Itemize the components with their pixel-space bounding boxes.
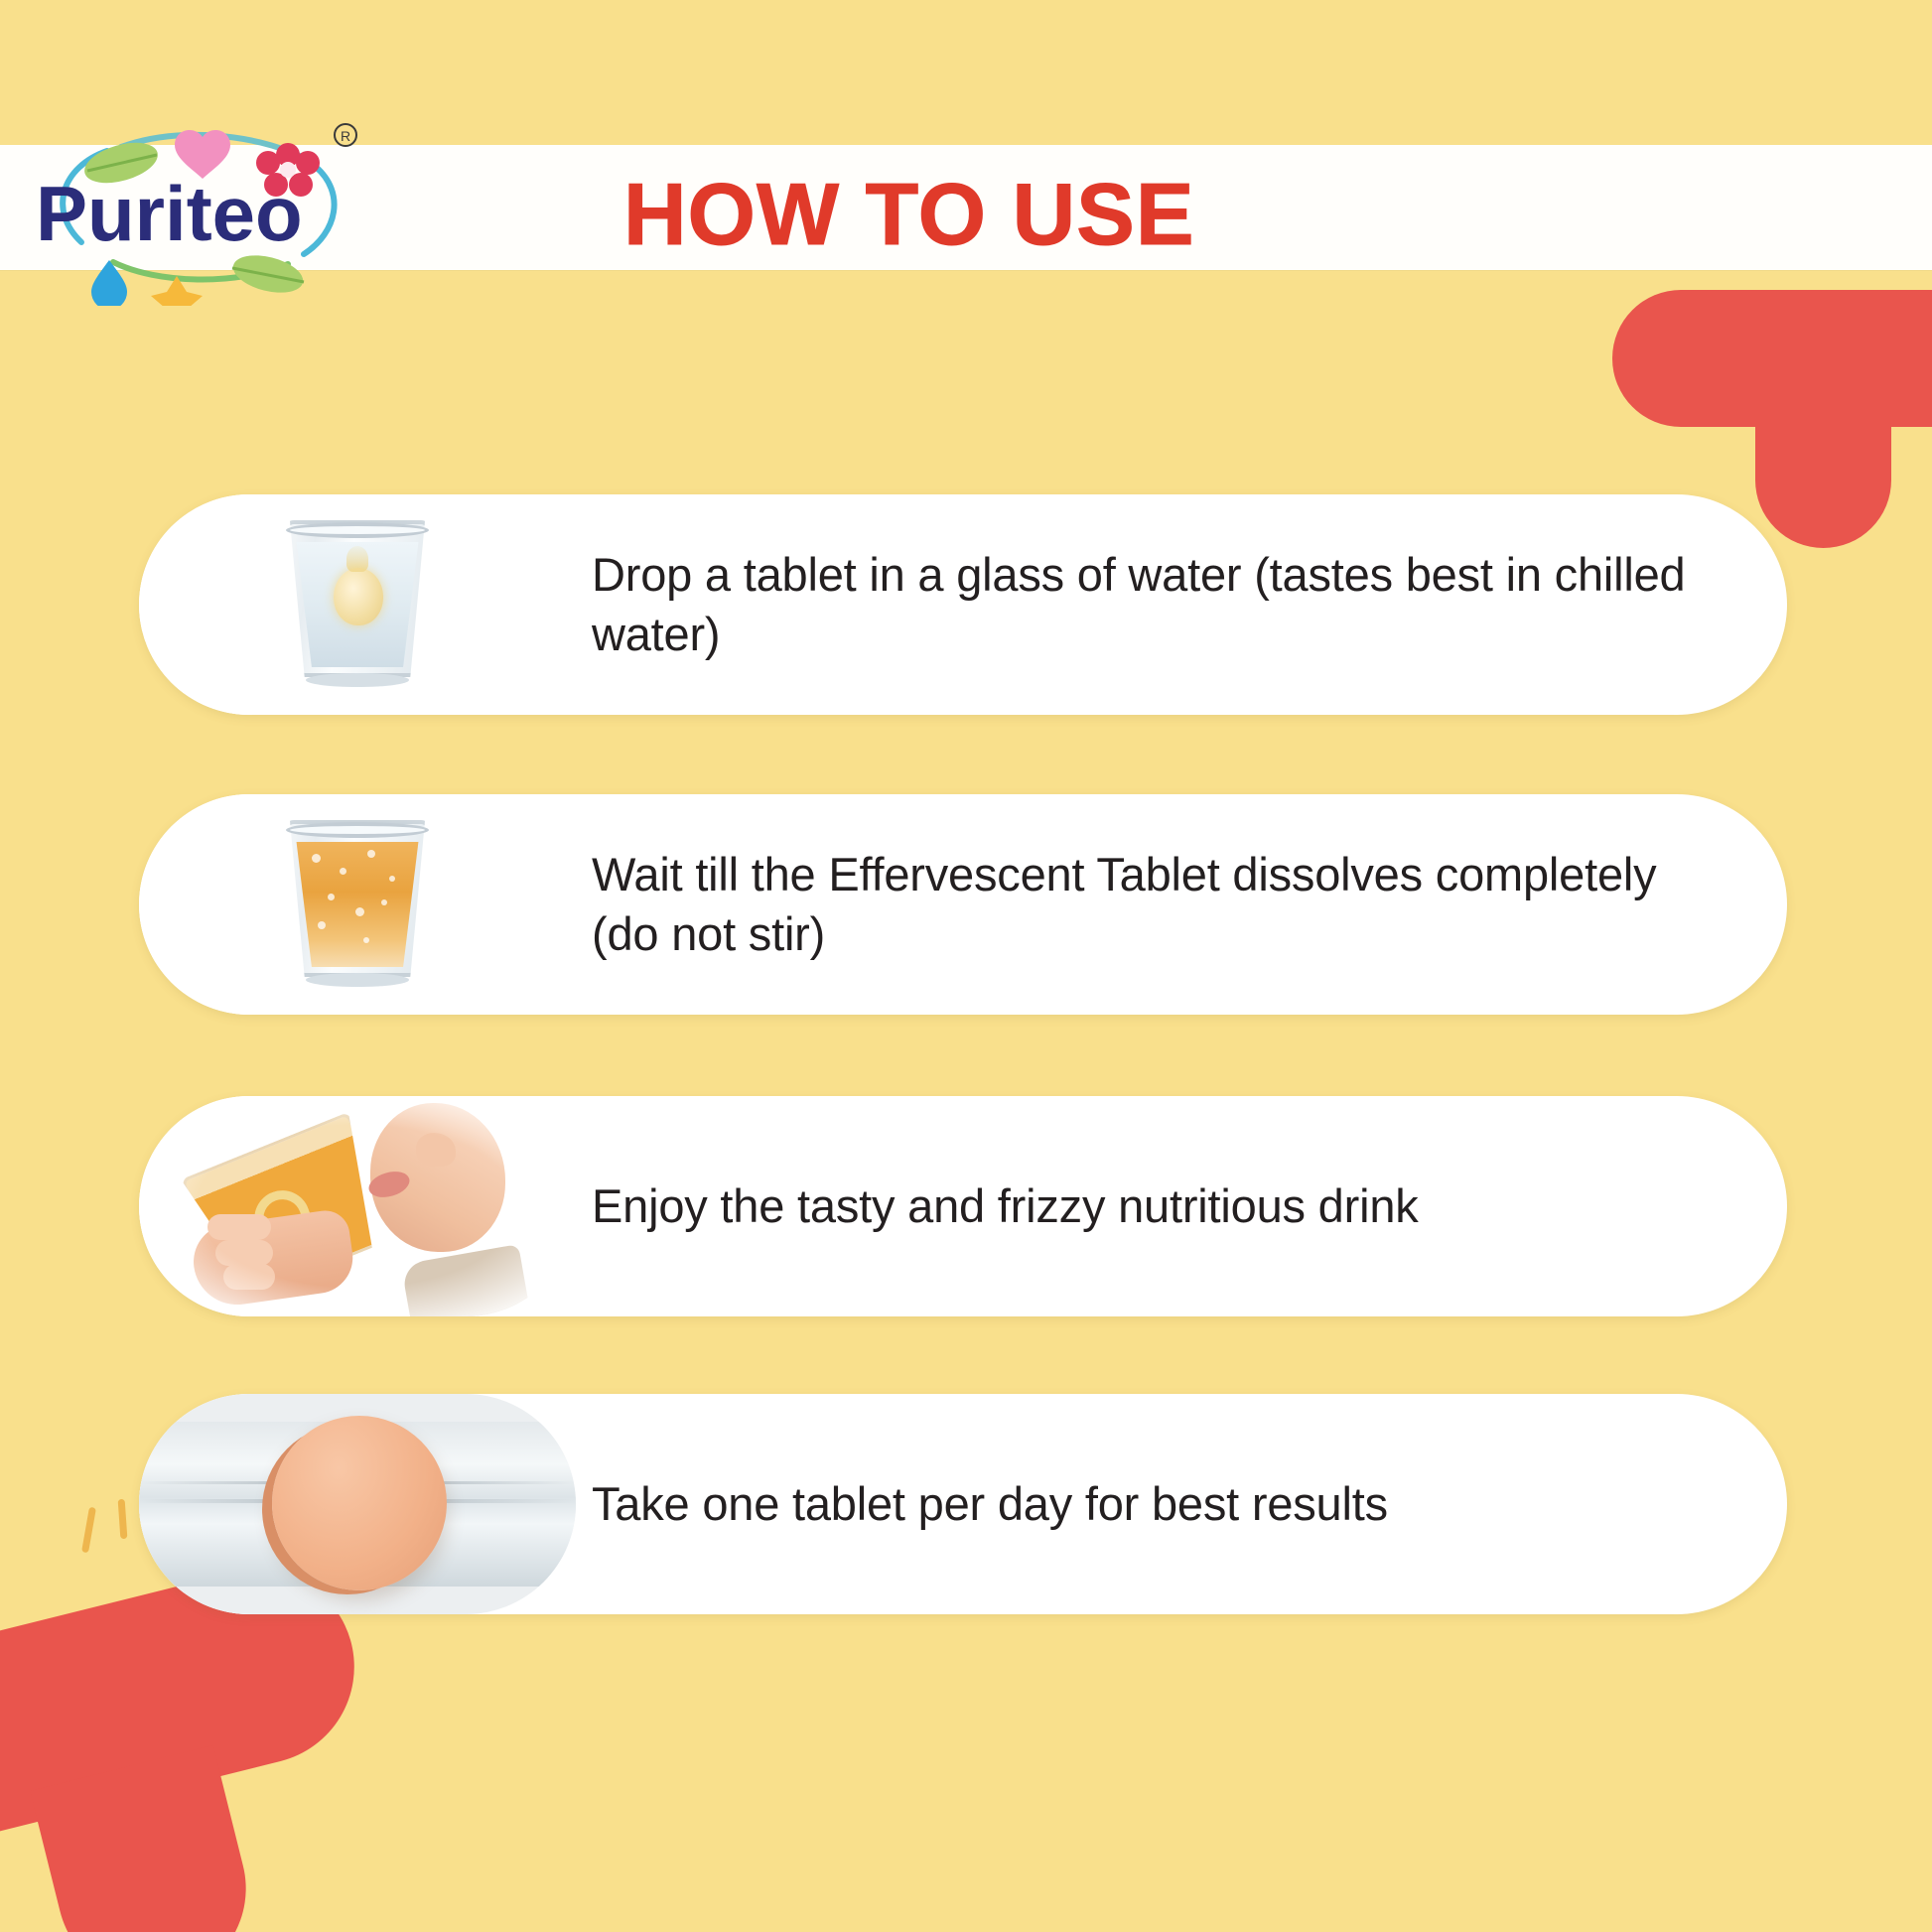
glass-of-water-with-tablet-icon bbox=[139, 494, 576, 715]
step-text: Take one tablet per day for best results bbox=[576, 1474, 1787, 1534]
step-text: Enjoy the tasty and frizzy nutritious dr… bbox=[576, 1176, 1787, 1236]
infographic-canvas: Puriteo R HOW TO USE bbox=[0, 0, 1932, 1932]
drinking-illustration bbox=[194, 1107, 521, 1306]
step-row[interactable]: Take one tablet per day for best results bbox=[139, 1394, 1787, 1614]
brand-wordmark: Puriteo bbox=[36, 170, 303, 257]
glass-icon bbox=[284, 820, 431, 989]
brand-logo[interactable]: Puriteo R bbox=[18, 111, 395, 306]
svg-text:R: R bbox=[341, 128, 350, 144]
step-row[interactable]: Wait till the Effervescent Tablet dissol… bbox=[139, 794, 1787, 1015]
effervescent-tablet-on-strip-icon bbox=[139, 1394, 576, 1614]
glass-icon bbox=[284, 520, 431, 689]
step-text: Wait till the Effervescent Tablet dissol… bbox=[576, 845, 1787, 963]
registered-trademark-icon: R bbox=[335, 124, 356, 146]
glass-of-dissolved-effervescent-drink-icon bbox=[139, 794, 576, 1015]
step-row[interactable]: Enjoy the tasty and frizzy nutritious dr… bbox=[139, 1096, 1787, 1316]
step-row[interactable]: Drop a tablet in a glass of water (taste… bbox=[139, 494, 1787, 715]
page-title: HOW TO USE bbox=[623, 171, 1195, 258]
person-drinking-icon bbox=[139, 1096, 576, 1316]
step-text: Drop a tablet in a glass of water (taste… bbox=[576, 545, 1787, 663]
header-bar: Puriteo R HOW TO USE bbox=[0, 145, 1932, 270]
tablet-strip-illustration bbox=[139, 1394, 576, 1614]
